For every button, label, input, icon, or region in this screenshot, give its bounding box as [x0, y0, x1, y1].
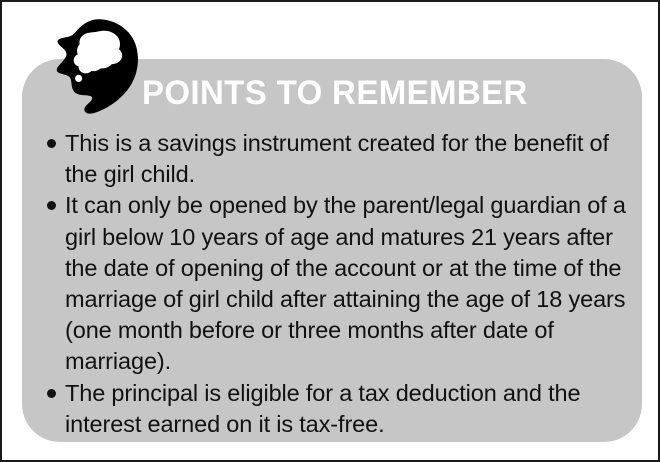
points-to-remember-card: POINTS TO REMEMBER This is a savings ins…: [0, 0, 660, 462]
bullet-icon: [47, 201, 56, 210]
list-item: The principal is eligible for a tax dedu…: [46, 378, 626, 440]
page-title: POINTS TO REMEMBER: [142, 74, 549, 112]
bullet-icon: [47, 139, 56, 148]
head-thinking-icon: [54, 18, 140, 122]
points-list: This is a savings instrument created for…: [46, 128, 626, 440]
header-row: POINTS TO REMEMBER: [142, 74, 562, 114]
bullet-icon: [47, 389, 56, 398]
list-item-text: The principal is eligible for a tax dedu…: [65, 378, 626, 440]
list-item-text: It can only be opened by the parent/lega…: [65, 190, 626, 377]
list-item-text: This is a savings instrument created for…: [65, 128, 626, 190]
list-item: This is a savings instrument created for…: [46, 128, 626, 190]
list-item: It can only be opened by the parent/lega…: [46, 190, 626, 377]
